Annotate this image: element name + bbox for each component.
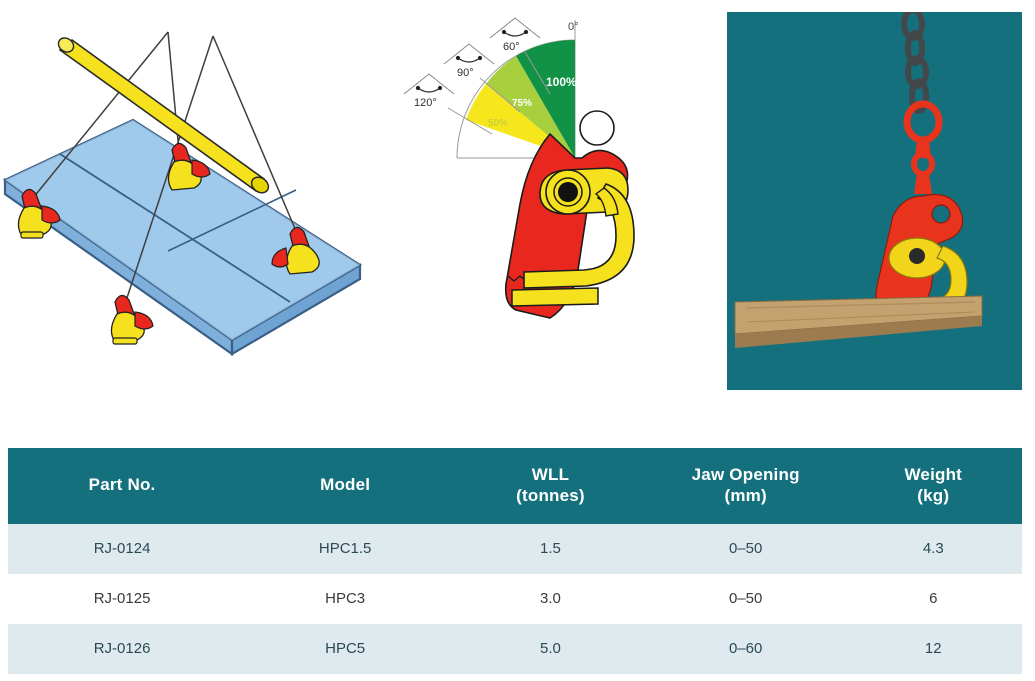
cell-part-no: RJ-0124: [8, 524, 236, 574]
header-line2: (tonnes): [458, 486, 643, 507]
column-header-jaw-opening: Jaw Opening (mm): [647, 448, 845, 524]
cell-weight: 4.3: [845, 524, 1022, 574]
table-row: RJ-0126 HPC5 5.0 0–60 12: [8, 624, 1022, 674]
cell-part-no: RJ-0125: [8, 574, 236, 624]
angle-label-0: 0°: [568, 21, 579, 33]
clamp-icon-bottom: [111, 295, 153, 344]
capacity-label-50: 50%: [488, 118, 508, 129]
cell-wll: 5.0: [454, 624, 647, 674]
table-row: RJ-0125 HPC3 3.0 0–50 6: [8, 574, 1022, 624]
header-line2: (mm): [651, 486, 841, 507]
header-line2: (kg): [849, 486, 1018, 507]
column-header-weight: Weight (kg): [845, 448, 1022, 524]
column-header-wll: WLL (tonnes): [454, 448, 647, 524]
cell-jaw-opening: 0–50: [647, 524, 845, 574]
column-header-part-no: Part No.: [8, 448, 236, 524]
lower-jaw: [512, 288, 598, 306]
header-line1: WLL: [532, 465, 569, 484]
header-line1: Part No.: [89, 475, 156, 494]
table-row: RJ-0124 HPC1.5 1.5 0–50 4.3: [8, 524, 1022, 574]
cell-wll: 3.0: [454, 574, 647, 624]
pivot-pin: [558, 182, 578, 202]
cell-wll: 1.5: [454, 524, 647, 574]
clamp-load-angle-diagram: 100% 75% 50% 0° 60° 90°: [400, 8, 690, 368]
header-line1: Weight: [904, 465, 962, 484]
column-header-model: Model: [236, 448, 454, 524]
table-header-row: Part No. Model WLL (tonnes) Jaw Opening …: [8, 448, 1022, 524]
illustration-band: 100% 75% 50% 0° 60° 90°: [0, 0, 1035, 430]
pivot-pin-photo: [909, 248, 925, 264]
product-spec-page: 100% 75% 50% 0° 60° 90°: [0, 0, 1035, 681]
cell-weight: 12: [845, 624, 1022, 674]
cell-weight: 6: [845, 574, 1022, 624]
capacity-label-100: 100%: [546, 75, 577, 89]
shackle-eye-photo: [932, 205, 950, 223]
plate-lifting-illustration: [0, 10, 370, 385]
cell-model: HPC3: [236, 574, 454, 624]
angle-label-60: 60°: [503, 41, 520, 53]
cell-jaw-opening: 0–50: [647, 574, 845, 624]
cell-part-no: RJ-0126: [8, 624, 236, 674]
cell-model: HPC1.5: [236, 524, 454, 574]
angle-label-90: 90°: [457, 67, 474, 79]
header-line1: Model: [320, 475, 370, 494]
cell-model: HPC5: [236, 624, 454, 674]
specifications-table: Part No. Model WLL (tonnes) Jaw Opening …: [8, 448, 1022, 674]
clamp-product-photo: [727, 12, 1022, 390]
angle-label-120: 120°: [414, 97, 437, 109]
shackle-eye: [580, 111, 614, 145]
cell-jaw-opening: 0–60: [647, 624, 845, 674]
header-line1: Jaw Opening: [692, 465, 800, 484]
